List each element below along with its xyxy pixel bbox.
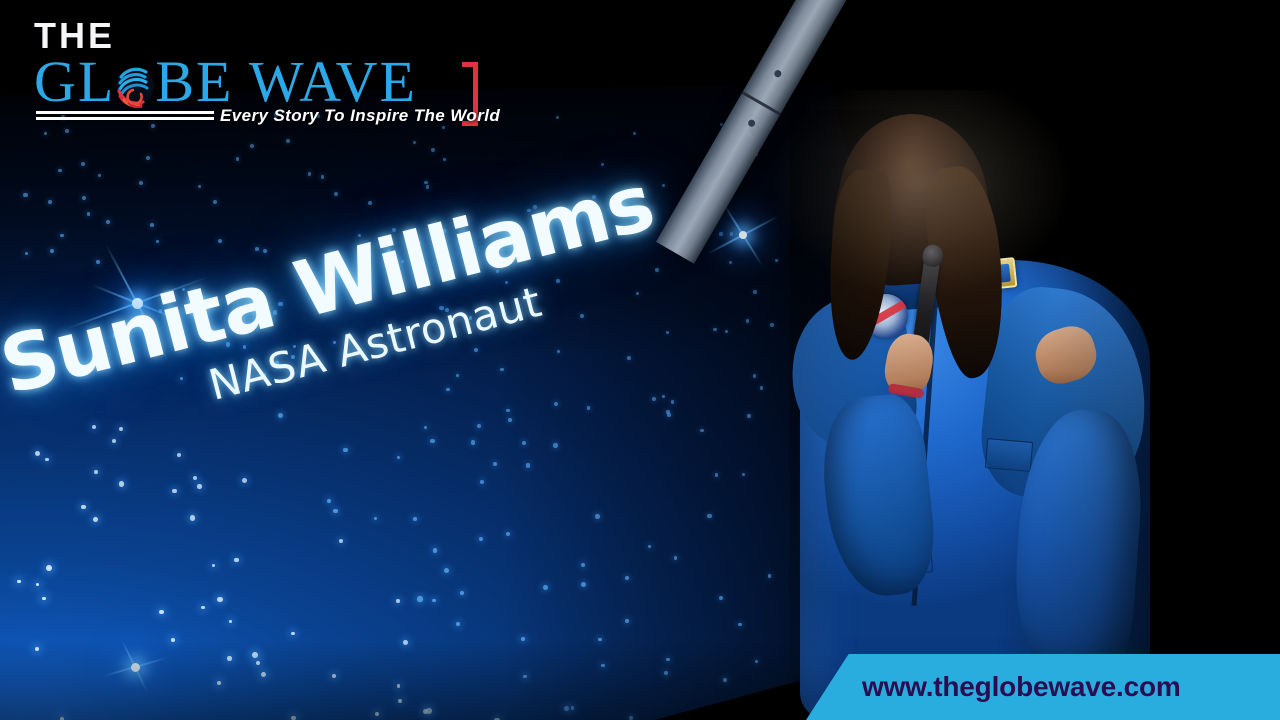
star: [412, 238, 416, 242]
star: [197, 484, 202, 489]
beam-seam: [742, 91, 782, 116]
star: [444, 568, 449, 573]
star: [469, 316, 473, 320]
star: [201, 606, 204, 609]
star: [760, 386, 764, 390]
star: [182, 288, 185, 291]
star: [81, 505, 86, 510]
star: [753, 290, 757, 294]
star: [445, 308, 449, 312]
logo-rule-lines: [36, 111, 214, 122]
star: [36, 363, 40, 367]
star: [580, 314, 584, 318]
star: [107, 365, 111, 369]
logo-tagline: Every Story To Inspire The World: [220, 106, 500, 126]
star: [595, 514, 600, 519]
website-url-banner[interactable]: www.theglobewave.com: [806, 654, 1280, 720]
star: [17, 580, 21, 584]
star: [742, 473, 745, 476]
star: [291, 632, 295, 636]
beam-bolt: [773, 69, 783, 79]
star: [396, 599, 400, 603]
star: [50, 249, 54, 253]
star: [339, 539, 343, 543]
star: [46, 565, 52, 571]
star: [273, 310, 277, 314]
star: [581, 563, 585, 567]
star: [333, 509, 338, 514]
star: [217, 597, 222, 602]
star: [334, 192, 338, 196]
star: [508, 418, 512, 422]
star: [556, 279, 560, 283]
star: [707, 514, 711, 518]
star: [119, 427, 123, 431]
star: [533, 205, 537, 209]
star: [479, 537, 483, 541]
star: [172, 489, 177, 494]
star: [442, 229, 446, 233]
star: [250, 144, 254, 148]
beam-bolt: [747, 118, 757, 128]
star: [460, 591, 464, 595]
star: [87, 212, 90, 215]
star: [106, 220, 110, 224]
star: [343, 448, 348, 453]
star: [213, 200, 217, 204]
star: [543, 585, 548, 590]
star: [581, 582, 586, 587]
star: [500, 368, 504, 372]
star: [255, 247, 259, 251]
star: [700, 429, 704, 433]
star: [648, 545, 651, 548]
star: [458, 240, 462, 244]
star: [480, 480, 484, 484]
star: [768, 574, 771, 577]
star: [190, 515, 195, 520]
star: [553, 443, 558, 448]
star: [666, 410, 670, 414]
star: [98, 174, 101, 177]
speaker-figure: [790, 110, 1160, 720]
star: [554, 402, 558, 406]
star: [278, 302, 283, 307]
star: [746, 319, 749, 322]
star: [505, 281, 508, 284]
star: [655, 268, 659, 272]
star: [574, 213, 578, 217]
star: [474, 348, 478, 352]
star: [159, 610, 163, 614]
star: [48, 200, 52, 204]
star: [719, 232, 723, 236]
star: [417, 596, 422, 601]
site-logo[interactable]: THE GL BE WAVE Every Story To Inspire Th…: [34, 18, 484, 130]
star: [36, 583, 39, 586]
star: [443, 158, 446, 161]
star: [719, 596, 723, 600]
star: [730, 232, 734, 236]
star: [262, 373, 266, 377]
star: [112, 439, 116, 443]
star: [92, 425, 96, 429]
star: [93, 517, 98, 522]
star: [587, 406, 591, 410]
star: [94, 470, 98, 474]
star: [58, 169, 62, 173]
star: [150, 223, 154, 227]
star: [770, 323, 774, 327]
star: [526, 463, 531, 468]
star: [446, 388, 450, 392]
globe-swirl-icon: [113, 64, 157, 108]
star: [243, 345, 246, 348]
star: [85, 370, 89, 374]
star: [42, 597, 46, 601]
website-url-text: www.theglobewave.com: [862, 671, 1181, 703]
star: [747, 414, 751, 418]
star: [308, 172, 312, 176]
star: [413, 141, 416, 144]
star: [625, 619, 629, 623]
star: [471, 440, 476, 445]
star: [397, 456, 400, 459]
star: [432, 599, 435, 602]
star: [431, 148, 435, 152]
logo-tagline-row: Every Story To Inspire The World: [36, 104, 468, 128]
star: [234, 558, 238, 562]
star: [35, 451, 40, 456]
speaker-chest-pocket: [985, 438, 1033, 472]
star: [753, 374, 756, 377]
star: [305, 284, 309, 288]
star: [113, 333, 118, 338]
star: [433, 548, 438, 553]
star: [557, 350, 560, 353]
star: [633, 132, 636, 135]
star: [327, 499, 331, 503]
star: [96, 260, 100, 264]
star: [139, 181, 143, 185]
star: [23, 193, 28, 198]
